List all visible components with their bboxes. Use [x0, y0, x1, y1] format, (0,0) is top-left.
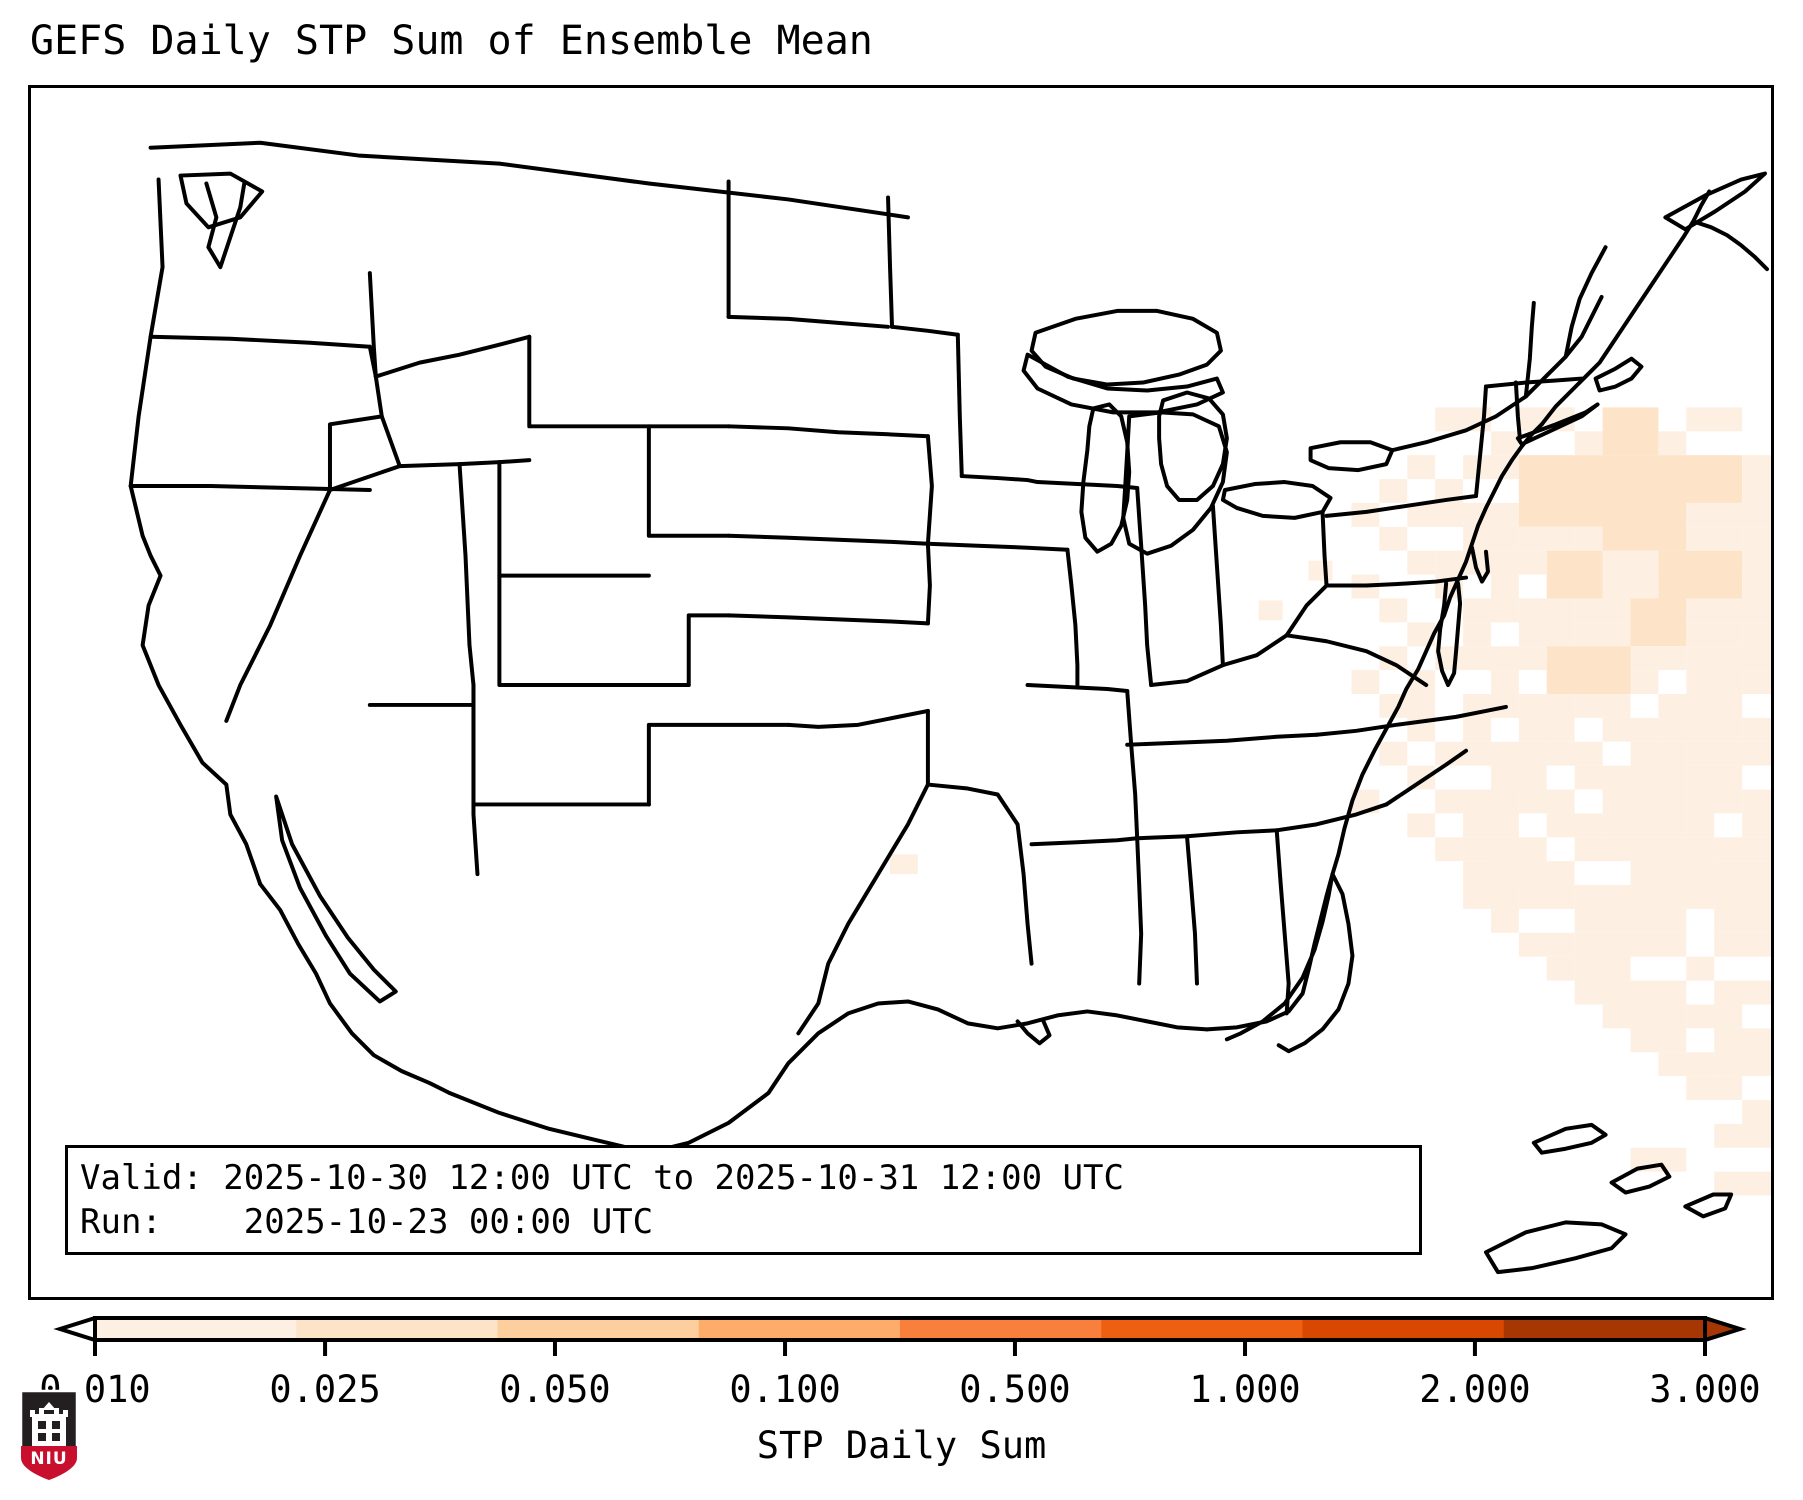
colorbar-segment-7 — [1504, 1318, 1706, 1340]
mississippi-delta — [1018, 1021, 1050, 1043]
border-ar-ms-tn — [1127, 691, 1137, 838]
lake-michigan — [1081, 404, 1129, 551]
colorbar-tick-label-2: 0.050 — [499, 1368, 610, 1411]
colorbar-segment-2 — [498, 1318, 700, 1340]
border-tx-la — [928, 785, 1032, 964]
cape-cod — [1596, 359, 1642, 391]
baja-coast — [260, 884, 449, 1093]
border-ky-oh-in — [1151, 635, 1287, 685]
border-ar-la — [1032, 838, 1138, 844]
colorbar-tick-label-5: 1.000 — [1189, 1368, 1300, 1411]
colorbar-segment-5 — [1101, 1318, 1303, 1340]
colorbar-over-arrow — [1705, 1318, 1740, 1340]
border-wy-sd-ne — [649, 426, 729, 535]
border-ny-vt-ma — [1476, 387, 1486, 496]
colorbar-tick-label-4: 0.500 — [959, 1368, 1070, 1411]
bahamas-1 — [1534, 1125, 1606, 1153]
border-wy-co — [499, 576, 688, 685]
colorbar-ticks — [95, 1340, 1705, 1356]
border-in-oh — [1213, 506, 1223, 665]
border-ks-ok — [729, 615, 928, 623]
colorbar-segment-3 — [699, 1318, 901, 1340]
border-ct-ny — [1516, 383, 1520, 439]
delaware-bay — [1472, 548, 1488, 582]
border-mo-ia-il — [1067, 550, 1077, 685]
colorbar-segment-4 — [900, 1318, 1102, 1340]
border-mn-wi — [962, 476, 1038, 482]
border-ne-ia — [928, 436, 932, 543]
border-nd-sd — [729, 317, 888, 327]
border-sd-mn-ia — [892, 327, 958, 335]
border-ga-sc-nc — [1277, 804, 1387, 830]
bahamas-3 — [1685, 1195, 1731, 1217]
run-time-text: Run: 2025-10-23 00:00 UTC — [80, 1200, 1407, 1244]
gulf-coast — [649, 1001, 1207, 1152]
border-id-nv-ut — [382, 416, 529, 466]
border-co-nm — [473, 685, 648, 804]
texas-outline — [798, 711, 928, 1033]
border-tn-nc-va — [1317, 721, 1427, 735]
border-ok-tx — [788, 711, 928, 727]
colorbar-tick-label-6: 2.000 — [1419, 1368, 1530, 1411]
map-panel — [28, 85, 1774, 1300]
colorbar-segments — [95, 1318, 1706, 1340]
border-ut-wy — [499, 462, 648, 575]
border-ny-canada — [1392, 297, 1601, 450]
mexico-south — [450, 1093, 649, 1153]
lake-erie — [1223, 482, 1331, 518]
colorbar[interactable] — [0, 1316, 1803, 1356]
border-la-ms — [1137, 838, 1141, 983]
valid-time-text: Valid: 2025-10-30 12:00 UTC to 2025-10-3… — [80, 1156, 1407, 1200]
page-title: GEFS Daily STP Sum of Ensemble Mean — [30, 18, 873, 64]
colorbar-under-arrow — [60, 1318, 95, 1340]
logo-text: NIU — [30, 1449, 67, 1469]
border-nm-tx — [649, 725, 789, 805]
border-sc-nc — [1386, 751, 1466, 805]
gulf-of-california — [276, 796, 396, 1001]
colorbar-tick-labels: 0.0100.0250.0500.1000.5001.0002.0003.000 — [0, 1368, 1803, 1414]
border-ut-az — [370, 685, 474, 705]
border-id-mt — [376, 337, 529, 377]
border-tn-ms-al — [1137, 830, 1277, 838]
colorbar-axis-label: STP Daily Sum — [0, 1424, 1803, 1467]
niu-logo: NIU — [18, 1388, 80, 1484]
border-oh-pa-wv — [1287, 512, 1327, 635]
pacific-coast — [131, 180, 261, 885]
canada-border — [151, 143, 908, 218]
vancouver-island — [180, 174, 262, 228]
border-ma-ct-ri — [1486, 379, 1582, 387]
colorbar-tick-label-7: 3.000 — [1649, 1368, 1760, 1411]
border-or-id — [330, 347, 382, 490]
florida-coast — [1207, 874, 1333, 1039]
border-nc-va — [1426, 707, 1506, 721]
border-ks-mo — [928, 544, 930, 624]
border-il-in — [1137, 488, 1151, 685]
lake-ontario — [1311, 442, 1393, 470]
colorbar-svg[interactable] — [0, 1316, 1803, 1356]
maine-coast — [1693, 221, 1767, 269]
cuba — [1486, 1222, 1626, 1272]
border-ky-tn — [1127, 735, 1316, 745]
border-ne-ks — [729, 536, 928, 544]
colorbar-segment-6 — [1303, 1318, 1505, 1340]
border-sd-ne — [729, 426, 928, 436]
border-il-ia-wi — [1038, 482, 1138, 488]
nova-scotia — [1665, 174, 1765, 230]
colorbar-segment-0 — [95, 1318, 297, 1340]
colorbar-tick-label-1: 0.025 — [269, 1368, 380, 1411]
border-va-wv-md — [1287, 635, 1427, 685]
border-ms-al — [1187, 836, 1197, 983]
border-nv-ca — [226, 466, 399, 721]
annotation-box: Valid: 2025-10-30 12:00 UTC to 2025-10-3… — [65, 1145, 1422, 1255]
border-ia-mo — [928, 544, 1068, 550]
border-co-ks — [689, 615, 729, 685]
map-geography — [31, 88, 1771, 1297]
bahamas-2 — [1612, 1165, 1670, 1193]
border-pa-ny — [1327, 496, 1476, 516]
border-al-ga — [1277, 830, 1289, 1013]
colorbar-tick-label-3: 0.100 — [729, 1368, 840, 1411]
border-az-nm — [473, 705, 477, 874]
border-mt-wy — [529, 337, 728, 427]
border-nv-ut — [460, 464, 474, 685]
florida-peninsula — [1279, 874, 1353, 1051]
border-wa-or — [151, 337, 370, 347]
colorbar-segment-1 — [296, 1318, 498, 1340]
border-mn-ia — [958, 335, 962, 476]
